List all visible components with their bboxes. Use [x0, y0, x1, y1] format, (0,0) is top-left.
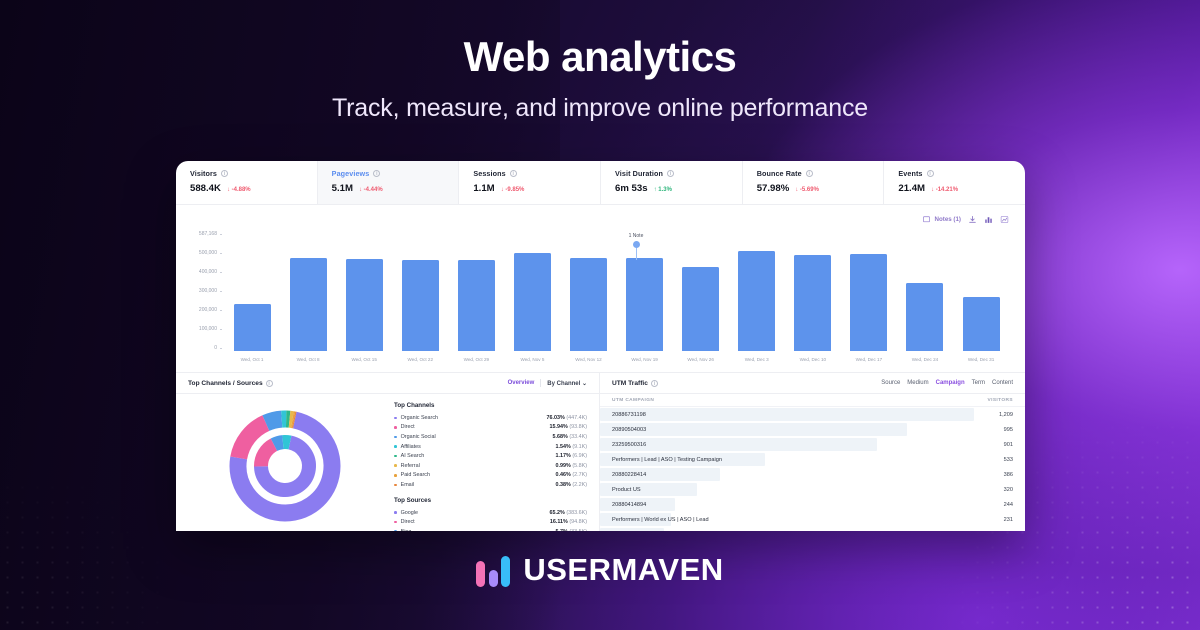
kpi-value-row: 57.98%↓ -5.69% — [757, 183, 884, 194]
chart-bar[interactable] — [794, 255, 831, 351]
list-item-label: Bing — [401, 529, 556, 531]
kpi-card-visitors[interactable]: Visitorsi588.4K↓ -4.88% — [176, 161, 318, 204]
chart-bar[interactable] — [234, 304, 271, 351]
table-row[interactable]: 20880414894244 — [600, 497, 1025, 512]
legend-swatch — [394, 417, 397, 420]
kpi-delta: ↓ -5.69% — [795, 187, 819, 193]
utm-panel-header: UTM Traffic i SourceMediumCampaignTermCo… — [600, 373, 1025, 394]
channels-sources-lists: Top Channels Organic Search76.03% (447.4… — [394, 402, 599, 531]
x-tick-label: Wed, Oct 1 — [224, 357, 280, 362]
utm-traffic-panel: UTM Traffic i SourceMediumCampaignTermCo… — [600, 373, 1025, 531]
chart-bar[interactable] — [402, 260, 439, 351]
kpi-value-row: 588.4K↓ -4.88% — [190, 183, 317, 194]
y-tick-label: 500,000 — [199, 250, 222, 256]
table-row[interactable]: youtube_aimaster_integration205 — [600, 527, 1025, 531]
utm-campaign-name: 20890504003 — [612, 427, 646, 433]
x-tick-label: Wed, Oct 15 — [336, 357, 392, 362]
list-item-label: AI Search — [401, 453, 556, 459]
top-sources-list-title: Top Sources — [394, 497, 587, 504]
overview-tab[interactable]: Overview — [508, 380, 535, 386]
list-item-value: 0.99% (5.8K) — [556, 463, 587, 469]
utm-campaign-name: 23259500316 — [612, 442, 646, 448]
utm-column-campaign: UTM CAMPAIGN — [612, 398, 654, 403]
legend-swatch — [394, 521, 397, 524]
utm-visitors-value: 995 — [1004, 427, 1013, 433]
brand-name: USERMAVEN — [523, 552, 723, 588]
chart-bar[interactable] — [346, 259, 383, 351]
kpi-label-row: Visitorsi — [190, 169, 317, 178]
lower-panels: Top Channels / Sources i Overview By Cha… — [176, 372, 1025, 531]
kpi-label-row: Bounce Ratei — [757, 169, 884, 178]
utm-campaign-name: 20880228414 — [612, 472, 646, 478]
utm-tab-medium[interactable]: Medium — [907, 380, 928, 386]
y-tick-label: 300,000 — [199, 288, 222, 294]
spacer — [394, 490, 587, 497]
kpi-delta: ↓ -4.88% — [227, 187, 251, 193]
legend-swatch — [394, 484, 397, 487]
divider — [540, 379, 541, 387]
kpi-card-events[interactable]: Eventsi21.4M↓ -14.21% — [884, 161, 1025, 204]
table-row[interactable]: Performers | Lead | ASO | Testing Campai… — [600, 452, 1025, 467]
kpi-card-sessions[interactable]: Sessionsi1.1M↓ -9.85% — [459, 161, 601, 204]
utm-campaign-name: Product US — [612, 487, 641, 493]
list-item[interactable]: Referral0.99% (5.8K) — [394, 461, 587, 471]
chevron-down-icon: ⌄ — [582, 381, 587, 387]
info-icon[interactable]: i — [510, 170, 517, 177]
list-item-value: 76.03% (447.4K) — [547, 415, 587, 421]
page-subtitle: Track, measure, and improve online perfo… — [0, 94, 1200, 123]
utm-visitors-value: 533 — [1004, 457, 1013, 463]
top-channels-title-group: Top Channels / Sources i — [188, 380, 273, 387]
list-item-value: 0.38% (2.2K) — [556, 482, 587, 488]
list-item-label: Direct — [401, 519, 550, 525]
x-tick-label: Wed, Dec 10 — [785, 357, 841, 362]
kpi-value-row: 1.1M↓ -9.85% — [473, 183, 600, 194]
kpi-label-row: Visit Durationi — [615, 169, 742, 178]
kpi-card-bounce-rate[interactable]: Bounce Ratei57.98%↓ -5.69% — [743, 161, 885, 204]
donut-segment[interactable] — [266, 419, 282, 423]
bar-chart-view-button[interactable] — [984, 215, 993, 224]
donut-segment[interactable] — [283, 442, 290, 443]
table-row[interactable]: 23259500316901 — [600, 437, 1025, 452]
utm-campaign-name: Performers | Lead | ASO | Testing Campai… — [612, 457, 722, 463]
bar-slot[interactable] — [953, 231, 1009, 351]
legend-swatch — [394, 426, 397, 429]
info-icon[interactable]: i — [266, 380, 273, 387]
kpi-delta: ↓ -9.85% — [501, 187, 525, 193]
info-icon[interactable]: i — [806, 170, 813, 177]
x-tick-label: Wed, Dec 3 — [729, 357, 785, 362]
utm-visitors-value: 901 — [1004, 442, 1013, 448]
list-item[interactable]: Direct15.94% (93.8K) — [394, 423, 587, 433]
notes-button[interactable]: Notes (1) — [922, 215, 961, 224]
x-tick-label: Wed, Dec 24 — [897, 357, 953, 362]
list-item-value: 5.7% (33.5K) — [556, 529, 587, 531]
bar-slot[interactable] — [785, 231, 841, 351]
kpi-value: 21.4M — [898, 183, 925, 194]
by-channel-dropdown-label: By Channel — [547, 381, 580, 387]
top-sources-list: Google65.2% (383.6K)Direct16.11% (94.8K)… — [394, 508, 587, 531]
legend-swatch — [394, 445, 397, 448]
utm-column-visitors: VISITORS — [987, 398, 1013, 403]
kpi-delta: ↓ -4.44% — [359, 187, 383, 193]
note-pin-icon — [633, 241, 640, 248]
notes-label: Notes (1) — [935, 216, 961, 223]
row-bar — [600, 408, 974, 421]
kpi-label: Visitors — [190, 169, 217, 178]
list-item[interactable]: AI Search1.17% (6.9K) — [394, 451, 587, 461]
logo-bar — [501, 556, 510, 587]
logo-mark — [476, 553, 510, 587]
top-channels-list: Organic Search76.03% (447.4K)Direct15.94… — [394, 413, 587, 490]
chart-bar[interactable] — [963, 297, 1000, 351]
utm-visitors-value: 1,209 — [999, 412, 1013, 418]
utm-visitors-value: 244 — [1004, 502, 1013, 508]
list-item-label: Affiliates — [401, 444, 556, 450]
list-item-label: Google — [401, 510, 550, 516]
donut-segment[interactable] — [274, 442, 283, 445]
table-row[interactable]: 20890504003995 — [600, 422, 1025, 437]
legend-swatch — [394, 511, 397, 514]
list-item-label: Email — [401, 482, 556, 488]
kpi-value: 5.1M — [332, 183, 353, 194]
chart-y-axis: 587,168500,000400,000300,000200,000100,0… — [176, 231, 222, 351]
chart-x-axis: Wed, Oct 1Wed, Oct 8Wed, Oct 15Wed, Oct … — [224, 357, 1009, 362]
legend-swatch — [394, 464, 397, 467]
list-item-label: Organic Search — [401, 415, 547, 421]
kpi-delta: ↑ 1.3% — [654, 187, 672, 193]
bar-slot[interactable] — [392, 231, 448, 351]
y-tick-label: 0 — [214, 345, 222, 351]
utm-campaign-name: Performers | World ex US | ASO | Lead — [612, 517, 709, 523]
list-item-value: 1.54% (9.1K) — [556, 444, 587, 450]
utm-tab-content[interactable]: Content — [992, 380, 1013, 386]
chart-bar[interactable] — [290, 258, 327, 351]
chart-bar[interactable] — [570, 258, 607, 351]
visitors-bar-chart[interactable]: 587,168500,000400,000300,000200,000100,0… — [176, 227, 1025, 372]
top-channels-panel-header: Top Channels / Sources i Overview By Cha… — [176, 373, 599, 394]
list-item-label: Organic Social — [401, 434, 553, 440]
kpi-label: Sessions — [473, 169, 505, 178]
utm-tab-term[interactable]: Term — [972, 380, 985, 386]
bar-slot[interactable] — [224, 231, 280, 351]
list-item-value: 16.11% (94.8K) — [550, 519, 587, 525]
bar-slot[interactable] — [560, 231, 616, 351]
bar-slot[interactable] — [897, 231, 953, 351]
y-tick-label: 200,000 — [199, 307, 222, 313]
by-channel-dropdown[interactable]: By Channel ⌄ — [547, 380, 587, 387]
chart-bar[interactable] — [906, 283, 943, 351]
list-item[interactable]: Organic Search76.03% (447.4K) — [394, 413, 587, 423]
utm-tabs: SourceMediumCampaignTermContent — [881, 380, 1013, 386]
legend-swatch — [394, 436, 397, 439]
chart-note-marker[interactable]: 1 Note — [616, 233, 656, 260]
kpi-delta: ↓ -14.21% — [931, 187, 958, 193]
note-marker-label: 1 Note — [616, 233, 656, 239]
x-tick-label: Wed, Nov 5 — [504, 357, 560, 362]
chart-toolbar: Notes (1) — [176, 205, 1025, 227]
utm-traffic-title: UTM Traffic — [612, 380, 648, 387]
x-tick-label: Wed, Nov 26 — [673, 357, 729, 362]
list-item[interactable]: Bing5.7% (33.5K) — [394, 527, 587, 531]
list-item[interactable]: Paid Search0.46% (2.7K) — [394, 471, 587, 481]
bar-chart-icon — [984, 215, 993, 224]
kpi-label-row: Eventsi — [898, 169, 1025, 178]
note-pin-stem — [636, 248, 637, 260]
hero-section: Web analytics Track, measure, and improv… — [0, 34, 1200, 123]
x-tick-label: Wed, Oct 29 — [448, 357, 504, 362]
legend-swatch — [394, 474, 397, 477]
chart-bar[interactable] — [458, 260, 495, 351]
info-icon[interactable]: i — [667, 170, 674, 177]
utm-visitors-value: 231 — [1004, 517, 1013, 523]
download-icon — [968, 215, 977, 224]
top-channels-sources-panel: Top Channels / Sources i Overview By Cha… — [176, 373, 600, 531]
legend-swatch — [394, 455, 397, 458]
utm-table-rows: 208867311981,209208905040039952325950031… — [600, 407, 1025, 531]
x-tick-label: Wed, Nov 12 — [560, 357, 616, 362]
top-channels-controls: Overview By Channel ⌄ — [508, 379, 587, 387]
chart-bar[interactable] — [682, 267, 719, 351]
bar-slot[interactable] — [448, 231, 504, 351]
kpi-value: 588.4K — [190, 183, 221, 194]
x-tick-label: Wed, Dec 31 — [953, 357, 1009, 362]
list-item[interactable]: Affiliates1.54% (9.1K) — [394, 442, 587, 452]
y-tick-label: 587,168 — [199, 231, 222, 237]
line-chart-view-button[interactable] — [1000, 215, 1009, 224]
list-item-label: Direct — [401, 424, 550, 430]
list-item-value: 5.68% (33.4K) — [553, 434, 587, 440]
bar-slot[interactable] — [336, 231, 392, 351]
kpi-label: Visit Duration — [615, 169, 663, 178]
info-icon[interactable]: i — [651, 380, 658, 387]
kpi-value: 57.98% — [757, 183, 790, 194]
y-tick-label: 400,000 — [199, 269, 222, 275]
bar-slot[interactable] — [280, 231, 336, 351]
kpi-value-row: 5.1M↓ -4.44% — [332, 183, 459, 194]
kpi-value-row: 6m 53s↑ 1.3% — [615, 183, 742, 194]
x-tick-label: Wed, Oct 22 — [392, 357, 448, 362]
kpi-label: Events — [898, 169, 922, 178]
x-tick-label: Wed, Oct 8 — [280, 357, 336, 362]
kpi-value-row: 21.4M↓ -14.21% — [898, 183, 1025, 194]
list-item-label: Referral — [401, 463, 556, 469]
usermaven-logo: USERMAVEN — [0, 552, 1200, 588]
utm-title-group: UTM Traffic i — [612, 380, 658, 387]
info-icon[interactable]: i — [927, 170, 934, 177]
info-icon[interactable]: i — [221, 170, 228, 177]
table-row[interactable]: 20880228414386 — [600, 467, 1025, 482]
channels-donut-chart-wrap[interactable] — [176, 402, 394, 531]
kpi-card-visit-duration[interactable]: Visit Durationi6m 53s↑ 1.3% — [601, 161, 743, 204]
list-item-value: 1.17% (6.9K) — [556, 453, 587, 459]
utm-campaign-name: 20886731198 — [612, 412, 646, 418]
bar-slot[interactable] — [729, 231, 785, 351]
y-tick-label: 100,000 — [199, 326, 222, 332]
utm-visitors-value: 320 — [1004, 487, 1013, 493]
bar-slot[interactable] — [673, 231, 729, 351]
kpi-value: 6m 53s — [615, 183, 648, 194]
bar-slot[interactable] — [504, 231, 560, 351]
channels-donut-chart — [229, 410, 341, 522]
kpi-value: 1.1M — [473, 183, 494, 194]
kpi-label: Pageviews — [332, 169, 370, 178]
x-tick-label: Wed, Dec 17 — [841, 357, 897, 362]
kpi-strip: Visitorsi588.4K↓ -4.88%Pageviewsi5.1M↓ -… — [176, 161, 1025, 205]
list-item[interactable]: Organic Social5.68% (33.4K) — [394, 432, 587, 442]
top-channels-list-title: Top Channels — [394, 402, 587, 409]
table-row[interactable]: Product US320 — [600, 482, 1025, 497]
utm-visitors-value: 386 — [1004, 472, 1013, 478]
info-icon[interactable]: i — [373, 170, 380, 177]
bar-slot[interactable] — [841, 231, 897, 351]
utm-tab-campaign[interactable]: Campaign — [936, 380, 965, 386]
donut-segment[interactable] — [261, 445, 274, 467]
top-channels-title: Top Channels / Sources — [188, 380, 263, 387]
chart-bar[interactable] — [850, 254, 887, 351]
legend-swatch — [394, 530, 397, 531]
kpi-label: Bounce Rate — [757, 169, 802, 178]
note-icon — [922, 215, 931, 224]
logo-bar — [476, 561, 485, 587]
list-item-value: 65.2% (383.6K) — [550, 510, 587, 516]
download-button[interactable] — [968, 215, 977, 224]
kpi-label-row: Sessionsi — [473, 169, 600, 178]
table-row[interactable]: Performers | World ex US | ASO | Lead231 — [600, 512, 1025, 527]
utm-campaign-name: 20880414894 — [612, 502, 646, 508]
list-item-value: 0.46% (2.7K) — [556, 472, 587, 478]
list-item[interactable]: Email0.38% (2.2K) — [394, 480, 587, 490]
utm-tab-source[interactable]: Source — [881, 380, 900, 386]
list-item-value: 15.94% (93.8K) — [550, 424, 587, 430]
logo-bar — [489, 570, 498, 587]
chart-bar[interactable] — [738, 251, 775, 351]
analytics-dashboard-window: Visitorsi588.4K↓ -4.88%Pageviewsi5.1M↓ -… — [176, 161, 1025, 531]
x-tick-label: Wed, Nov 19 — [617, 357, 673, 362]
kpi-label-row: Pageviewsi — [332, 169, 459, 178]
chart-bar[interactable] — [626, 258, 663, 351]
page-title: Web analytics — [0, 34, 1200, 80]
list-item[interactable]: Google65.2% (383.6K) — [394, 508, 587, 518]
table-row[interactable]: 208867311981,209 — [600, 407, 1025, 422]
utm-table-header: UTM CAMPAIGN VISITORS — [600, 394, 1025, 407]
list-item-label: Paid Search — [401, 472, 556, 478]
chart-bar[interactable] — [514, 253, 551, 351]
list-item[interactable]: Direct16.11% (94.8K) — [394, 517, 587, 527]
kpi-card-pageviews[interactable]: Pageviewsi5.1M↓ -4.44% — [318, 161, 460, 204]
line-chart-icon — [1000, 215, 1009, 224]
top-channels-body: Top Channels Organic Search76.03% (447.4… — [176, 394, 599, 531]
